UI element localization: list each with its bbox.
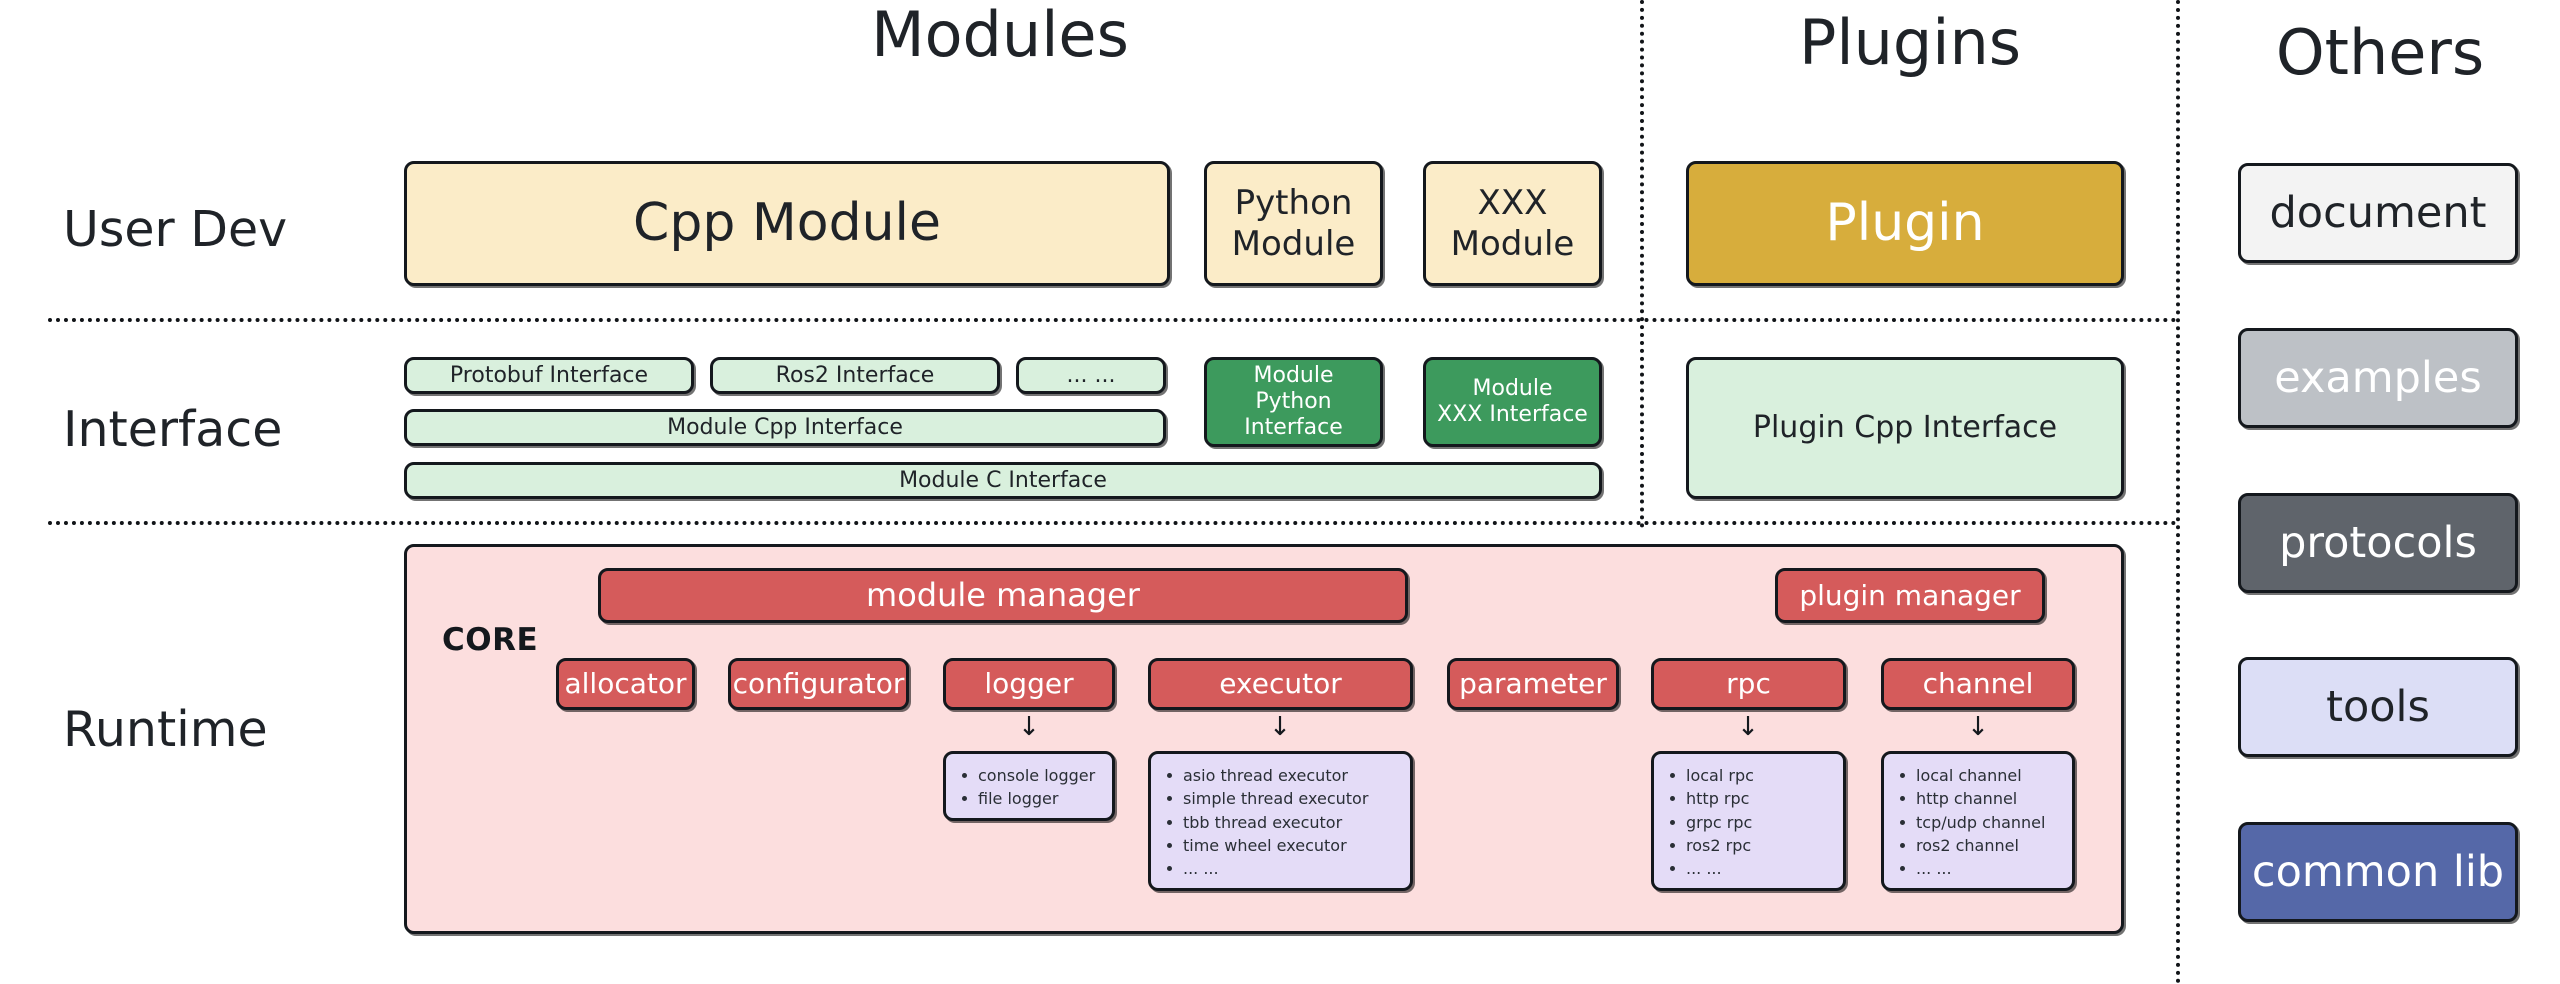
- ros2-interface-box[interactable]: Ros2 Interface: [710, 357, 1000, 394]
- list-item: local channel: [1896, 764, 2064, 787]
- module-python-interface-box[interactable]: Module Python Interface: [1204, 357, 1383, 447]
- logger-details-box: console logger file logger: [943, 751, 1115, 821]
- list-item: console logger: [958, 764, 1104, 787]
- others-item-common-lib[interactable]: common lib: [2238, 822, 2518, 922]
- divider-userdev-interface: [48, 318, 2178, 322]
- plugin-manager-box[interactable]: plugin manager: [1775, 568, 2045, 623]
- logger-details-list: console logger file logger: [958, 764, 1104, 811]
- executor-details-box: asio thread executor simple thread execu…: [1148, 751, 1413, 891]
- logger-box[interactable]: logger: [943, 658, 1115, 710]
- xxx-module-label-line2: Module: [1451, 224, 1575, 264]
- channel-details-list: local channel http channel tcp/udp chann…: [1896, 764, 2064, 881]
- others-item-protocols[interactable]: protocols: [2238, 493, 2518, 593]
- module-cpp-interface-box[interactable]: Module Cpp Interface: [404, 409, 1166, 446]
- parameter-box[interactable]: parameter: [1447, 658, 1619, 710]
- list-item: ros2 rpc: [1666, 834, 1835, 857]
- row-label-user-dev: User Dev: [63, 205, 287, 254]
- module-manager-box[interactable]: module manager: [598, 568, 1408, 623]
- list-item: http rpc: [1666, 787, 1835, 810]
- module-xxx-interface-line2: XXX Interface: [1437, 402, 1588, 428]
- module-c-interface-box[interactable]: Module C Interface: [404, 462, 1602, 499]
- rpc-details-box: local rpc http rpc grpc rpc ros2 rpc ...…: [1651, 751, 1846, 891]
- executor-details-list: asio thread executor simple thread execu…: [1163, 764, 1402, 881]
- list-item: file logger: [958, 787, 1104, 810]
- list-item: tbb thread executor: [1163, 811, 1402, 834]
- xxx-module-box[interactable]: XXX Module: [1423, 161, 1602, 286]
- list-item: ... ...: [1163, 857, 1402, 880]
- allocator-box[interactable]: allocator: [556, 658, 695, 710]
- module-python-interface-line2: Python Interface: [1213, 389, 1374, 441]
- list-item: simple thread executor: [1163, 787, 1402, 810]
- column-title-others: Others: [2210, 22, 2550, 84]
- channel-box[interactable]: channel: [1881, 658, 2075, 710]
- executor-box[interactable]: executor: [1148, 658, 1413, 710]
- protobuf-interface-box[interactable]: Protobuf Interface: [404, 357, 694, 394]
- python-module-label-line1: Python: [1235, 183, 1353, 223]
- configurator-box[interactable]: configurator: [728, 658, 909, 710]
- list-item: ... ...: [1666, 857, 1835, 880]
- list-item: grpc rpc: [1666, 811, 1835, 834]
- plugin-box[interactable]: Plugin: [1686, 161, 2124, 286]
- list-item: http channel: [1896, 787, 2064, 810]
- row-label-runtime: Runtime: [63, 705, 268, 754]
- xxx-module-label-line1: XXX: [1478, 183, 1548, 223]
- arrow-down-executor-icon: ↓: [1267, 714, 1293, 740]
- list-item: tcp/udp channel: [1896, 811, 2064, 834]
- module-xxx-interface-box[interactable]: Module XXX Interface: [1423, 357, 1602, 447]
- python-module-box[interactable]: Python Module: [1204, 161, 1383, 286]
- divider-interface-runtime: [48, 521, 2178, 525]
- divider-modules-plugins: [1640, 0, 1644, 528]
- arrow-down-logger-icon: ↓: [1016, 714, 1042, 740]
- row-label-interface: Interface: [63, 405, 282, 454]
- rpc-details-list: local rpc http rpc grpc rpc ros2 rpc ...…: [1666, 764, 1835, 881]
- list-item: time wheel executor: [1163, 834, 1402, 857]
- plugin-cpp-interface-box[interactable]: Plugin Cpp Interface: [1686, 357, 2124, 499]
- rpc-box[interactable]: rpc: [1651, 658, 1846, 710]
- list-item: asio thread executor: [1163, 764, 1402, 787]
- python-module-label-line2: Module: [1232, 224, 1356, 264]
- list-item: ros2 channel: [1896, 834, 2064, 857]
- column-title-plugins: Plugins: [1700, 12, 2120, 74]
- architecture-diagram: Modules Plugins Others User Dev Interfac…: [0, 0, 2560, 984]
- others-item-examples[interactable]: examples: [2238, 328, 2518, 428]
- module-python-interface-line1: Module: [1254, 363, 1334, 389]
- other-interface-ellipsis-box[interactable]: ... ...: [1016, 357, 1166, 394]
- cpp-module-box[interactable]: Cpp Module: [404, 161, 1170, 286]
- arrow-down-channel-icon: ↓: [1965, 714, 1991, 740]
- module-xxx-interface-line1: Module: [1473, 376, 1553, 402]
- others-item-tools[interactable]: tools: [2238, 657, 2518, 757]
- channel-details-box: local channel http channel tcp/udp chann…: [1881, 751, 2075, 891]
- column-title-modules: Modules: [680, 4, 1320, 66]
- core-label: CORE: [442, 622, 538, 658]
- divider-plugins-others: [2176, 0, 2180, 984]
- arrow-down-rpc-icon: ↓: [1735, 714, 1761, 740]
- others-item-document[interactable]: document: [2238, 163, 2518, 263]
- list-item: ... ...: [1896, 857, 2064, 880]
- list-item: local rpc: [1666, 764, 1835, 787]
